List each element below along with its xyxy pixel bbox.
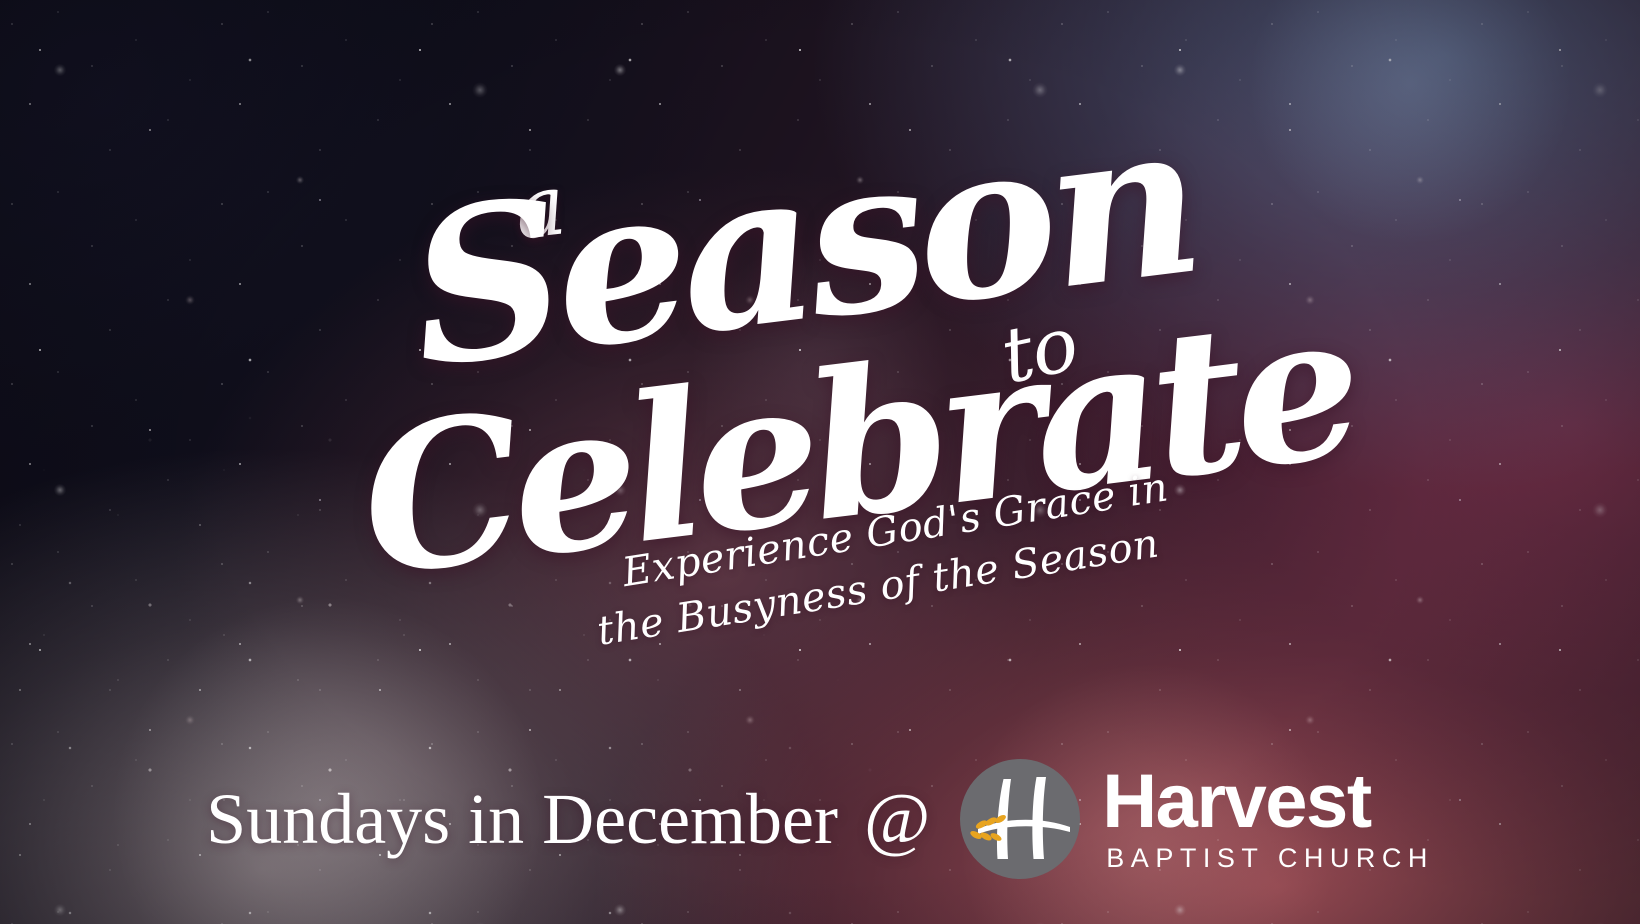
headline-lockup: a Season to Celebrate — [330, 130, 1250, 730]
harvest-h-wheat-icon — [956, 755, 1084, 883]
logo-text-block: Harvest BAPTIST CHURCH — [1102, 766, 1434, 871]
church-logo: Harvest BAPTIST CHURCH — [956, 755, 1434, 883]
at-symbol: @ — [864, 783, 930, 855]
footer-bar: Sundays in December @ — [0, 744, 1640, 894]
service-schedule-text: Sundays in December — [206, 783, 838, 855]
promotional-poster: a Season to Celebrate Experience God's G… — [0, 0, 1640, 924]
logo-wordmark: Harvest — [1102, 766, 1370, 838]
logo-tagline: BAPTIST CHURCH — [1106, 845, 1434, 872]
